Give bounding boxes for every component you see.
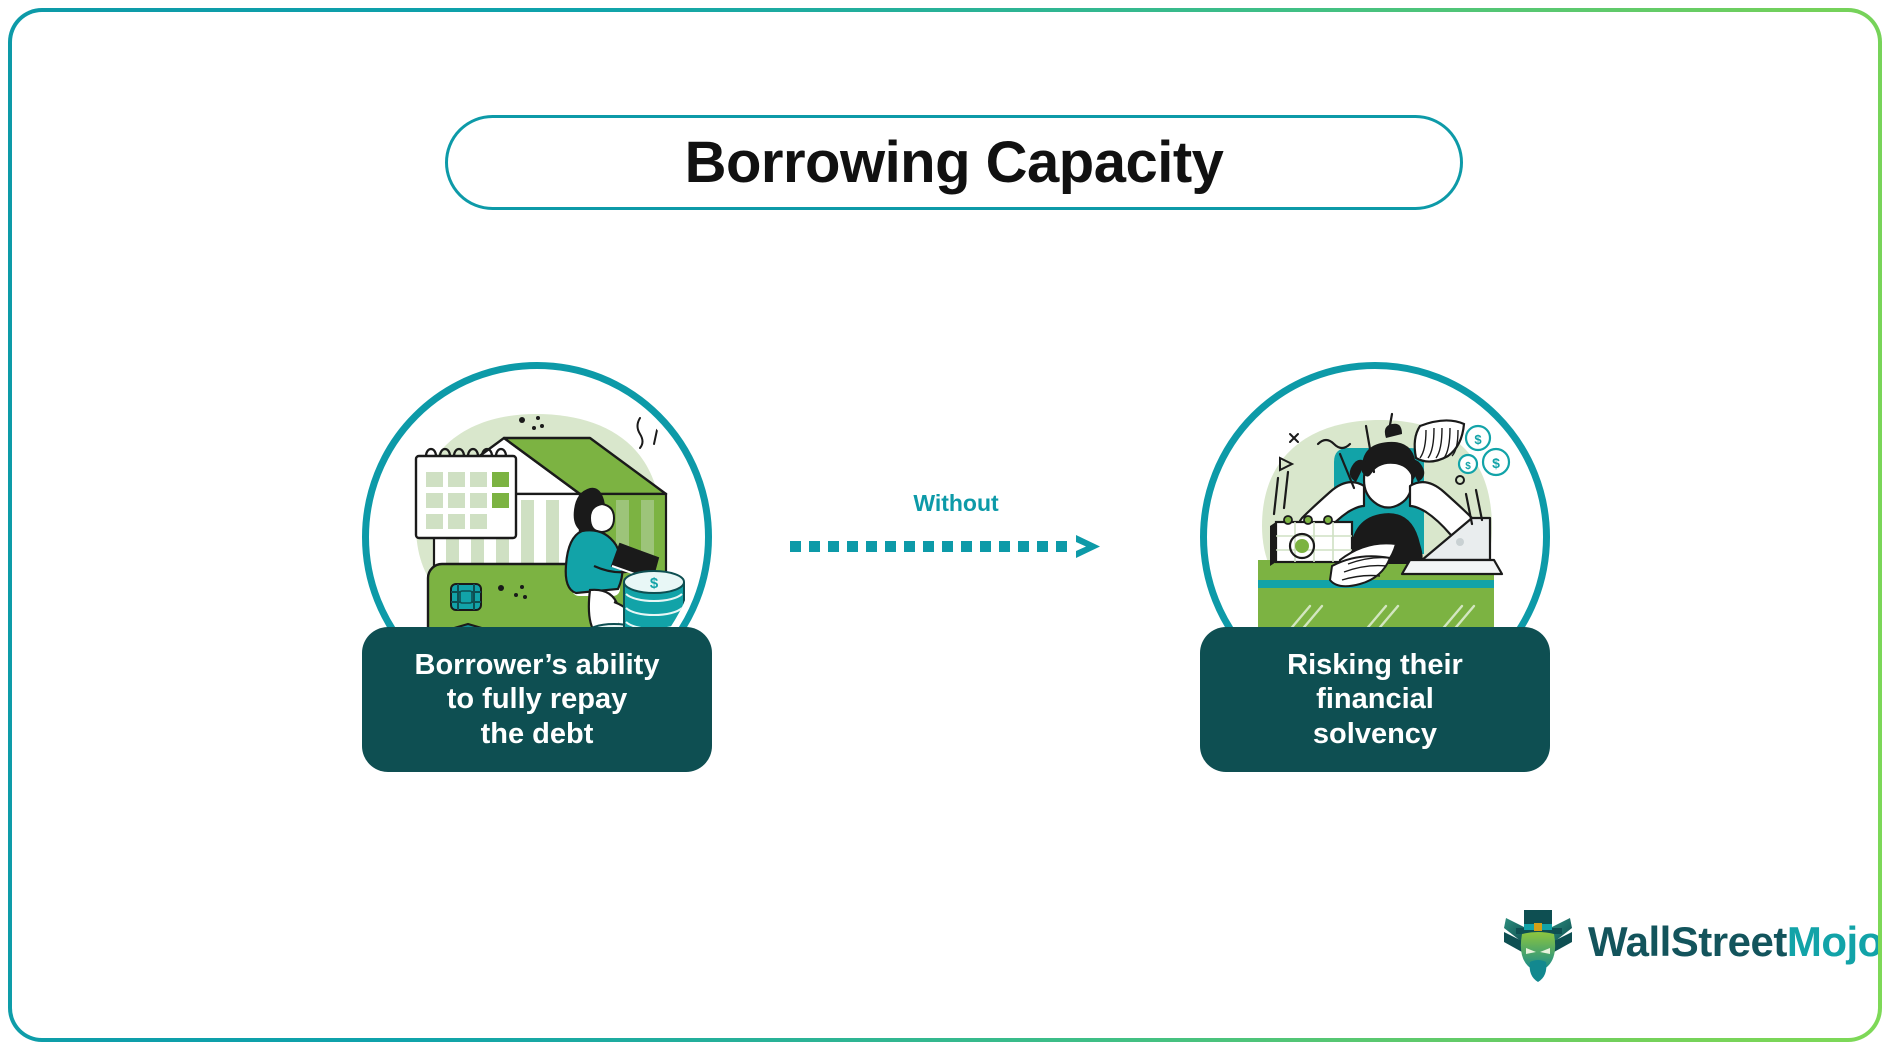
page-canvas: Borrowing Capacity (12, 12, 1878, 1038)
brand-name: WallStreetMojo (1588, 918, 1878, 966)
svg-text:$: $ (1465, 461, 1471, 472)
brand-name-part2: Mojo (1787, 918, 1878, 965)
svg-text:$: $ (650, 575, 659, 592)
page-title-pill: Borrowing Capacity (445, 115, 1463, 210)
svg-text:$: $ (1474, 432, 1482, 447)
right-node-caption: Risking their financial solvency (1287, 648, 1463, 751)
flow-connector: Without (790, 490, 1122, 570)
left-node-card: Borrower’s ability to fully repay the de… (362, 627, 712, 772)
svg-text:$: $ (1492, 455, 1500, 471)
dotted-arrow-icon (790, 532, 1122, 562)
page-frame: Borrowing Capacity (8, 8, 1882, 1042)
connector-label: Without (790, 490, 1122, 517)
brand-name-part1: WallStreet (1588, 918, 1787, 965)
brand-logo[interactable]: WallStreetMojo (1502, 902, 1878, 982)
left-node-caption: Borrower’s ability to fully repay the de… (415, 648, 660, 751)
right-node-card: Risking their financial solvency (1200, 627, 1550, 772)
page-title: Borrowing Capacity (685, 129, 1224, 196)
bull-mascot-tophat-icon (1502, 902, 1574, 982)
